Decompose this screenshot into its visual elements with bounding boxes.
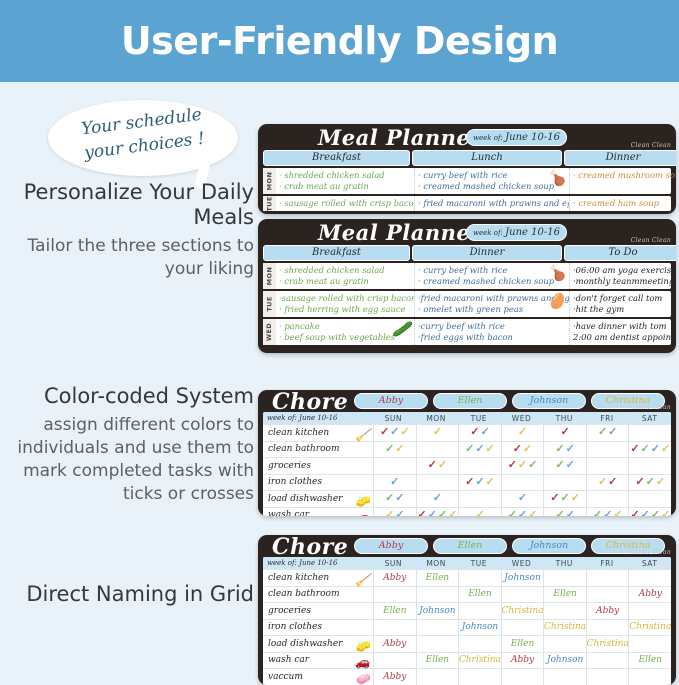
week-of-badge[interactable]: week of: June 10-16	[466, 224, 567, 241]
assigned-person-name: Ellen	[426, 573, 449, 583]
meal-cell[interactable]: · creamed mushroom soup	[570, 168, 676, 194]
check-mark-icon: ✓	[566, 510, 575, 516]
check-mark-icon: ✓	[395, 510, 404, 516]
check-mark-icon: ✓	[630, 510, 639, 516]
chore-cell[interactable]	[628, 458, 671, 474]
chore-cell[interactable]	[628, 603, 671, 619]
chore-cell[interactable]	[501, 475, 544, 491]
meal-entry: ·sausage rolled with crisp bacon	[279, 293, 411, 304]
check-mark-icon: ✓	[513, 444, 522, 455]
chore-row: groceriesEllenJohnsonChristinaAbby	[263, 602, 671, 619]
chore-cell[interactable]: ✓✓	[373, 442, 416, 458]
chore-cell[interactable]	[628, 425, 671, 441]
meal-cell[interactable]: · shredded chicken salad· crab meat au g…	[276, 168, 415, 194]
meal-cell[interactable]: ·fried macaroni with prawns and eggs· om…	[415, 291, 570, 317]
chore-cell[interactable]: ✓✓	[543, 508, 586, 517]
meal-cell[interactable]: ·don't forget call tom·hit the gym	[570, 291, 676, 317]
chore-cell[interactable]	[458, 570, 501, 586]
board-header: Meal Plannerweek of: June 10-16Clean Cle…	[258, 124, 676, 150]
chore-cell[interactable]: ✓	[416, 491, 459, 507]
meal-entry: ·curry beef with rice	[418, 321, 566, 332]
check-mark-icon: ✓	[641, 444, 650, 455]
meal-planner-board: Meal Plannerweek of: June 10-16Clean Cle…	[258, 124, 676, 214]
assigned-person-name: Johnson	[547, 655, 583, 665]
chore-cell[interactable]	[416, 442, 459, 458]
check-mark-icon: ✓	[433, 493, 442, 504]
chore-row: vaccum🧼Abby	[263, 668, 671, 685]
day-label: WED	[263, 319, 276, 345]
meal-entry: · creamed mashed chicken soup	[418, 181, 566, 192]
chore-cell[interactable]: ✓✓	[586, 425, 629, 441]
chore-cell[interactable]	[373, 620, 416, 636]
assigned-person-name: Christina	[501, 606, 543, 616]
meal-column-header: To Do	[564, 245, 676, 261]
chore-row: groceries✓✓✓✓✓✓✓	[263, 457, 671, 474]
chore-cell[interactable]	[586, 458, 629, 474]
page-header: User-Friendly Design	[0, 0, 679, 82]
meal-row: TUE·sausage rolled with crisp bacon· fri…	[263, 291, 671, 317]
meal-column-header: Dinner	[564, 150, 676, 166]
chore-cell[interactable]: Abby	[586, 603, 629, 619]
chore-cell[interactable]: ✓✓	[543, 458, 586, 474]
meal-cell[interactable]: ·sausage rolled with crisp bacon· fried …	[276, 291, 415, 317]
check-mark-icon: ✓	[630, 444, 639, 455]
chore-row: clean bathroom✓✓✓✓✓✓✓✓✓✓✓✓✓	[263, 441, 671, 458]
day-column-header: WED	[500, 559, 543, 568]
board-logo: Meal Planner	[318, 125, 482, 150]
chore-cell[interactable]: ✓✓✓	[501, 508, 544, 517]
day-label: MON	[263, 263, 276, 289]
meal-entry: · creamed mashed chicken soup	[418, 276, 566, 287]
board-logo: Meal Planner	[318, 220, 482, 245]
chore-cell[interactable]: ✓✓✓	[586, 508, 629, 517]
chore-cell[interactable]: Ellen	[373, 603, 416, 619]
chore-cell[interactable]: ✓✓✓✓	[416, 508, 459, 517]
meal-planner-board: Meal Plannerweek of: June 10-16Clean Cle…	[258, 219, 676, 353]
meal-entry: ·fried macaroni with prawns and eggs	[418, 293, 566, 304]
person-name-tag[interactable]: Ellen	[433, 393, 507, 409]
check-mark-icon: ✓	[385, 493, 394, 504]
meal-entry: · beef soup with vegetables	[279, 332, 411, 343]
caption-personalize-meals: Personalize Your Daily Meals Tailor the …	[0, 180, 264, 281]
chore-cell[interactable]: ✓✓✓	[458, 475, 501, 491]
meal-cell[interactable]: · creamed ham soup	[570, 196, 676, 211]
meal-cell[interactable]: ·curry beef with rice·fried eggs with ba…	[415, 319, 570, 345]
check-mark-icon: ✓	[475, 510, 484, 516]
chore-cell[interactable]: Johnson	[458, 620, 501, 636]
chore-task-icon: 🧹	[355, 573, 370, 587]
meal-entry: · creamed mushroom soup	[573, 170, 676, 181]
food-sticker-icon: 🍗	[547, 266, 566, 281]
check-mark-icon: ✓	[428, 460, 437, 471]
chore-cell[interactable]: ✓✓	[458, 425, 501, 441]
meal-cell[interactable]: ·06:00 am yoga exercise·monthly teanmmee…	[570, 263, 676, 289]
chore-cell[interactable]	[586, 669, 629, 685]
check-mark-icon: ✓	[646, 477, 655, 488]
meal-cell[interactable]: · curry beef with rice· creamed mashed c…	[415, 263, 570, 289]
check-mark-icon: ✓	[661, 510, 670, 516]
week-of-badge[interactable]: week of: June 10-16	[466, 129, 567, 146]
assigned-person-name: Christina	[587, 639, 629, 649]
chore-cell[interactable]: ✓	[543, 425, 586, 441]
chore-task-label[interactable]: groceries	[263, 461, 373, 471]
check-mark-icon: ✓	[438, 510, 447, 516]
chore-cell[interactable]: Abby	[373, 636, 416, 652]
meal-entry: ·fried eggs with bacon	[418, 332, 566, 343]
chore-cell[interactable]: Christina	[628, 620, 671, 636]
week-of-header[interactable]: week of: June 10-16	[263, 414, 372, 422]
check-mark-icon: ✓	[603, 510, 612, 516]
chore-cell[interactable]: ✓✓	[586, 475, 629, 491]
assigned-person-name: Ellen	[426, 655, 449, 665]
assigned-person-name: Abby	[383, 639, 406, 649]
chore-cell[interactable]	[458, 669, 501, 685]
check-mark-icon: ✓	[380, 427, 389, 438]
board-header: Meal Plannerweek of: June 10-16Clean Cle…	[258, 219, 676, 245]
chore-cell[interactable]: Ellen	[628, 653, 671, 669]
meal-row: TUE· sausage rolled with crisp bacon· fr…	[263, 196, 671, 211]
board-header: ChoreAbbyEllenJohnsonChristinaClean Clea…	[258, 535, 676, 557]
chore-cell[interactable]	[458, 636, 501, 652]
chore-cell[interactable]: ✓✓✓	[501, 458, 544, 474]
chore-row: load dishwasher🧽✓✓✓✓✓✓✓	[263, 490, 671, 507]
chore-row: load dishwasher🧽AbbyEllenChristina	[263, 635, 671, 652]
chore-cell[interactable]	[628, 570, 671, 586]
assigned-person-name: Christina	[629, 622, 671, 632]
check-mark-icon: ✓	[428, 510, 437, 516]
day-column-header: FRI	[586, 559, 629, 568]
chore-cell[interactable]	[458, 491, 501, 507]
brand-logo: Clean Clean	[631, 237, 671, 244]
chore-row: clean kitchen🧹AbbyEllenJohnson	[263, 569, 671, 586]
caption-color-coded: Color-coded System assign different colo…	[0, 384, 264, 506]
meal-entry: 2:00 am dentist appointment	[573, 332, 676, 343]
chore-cell[interactable]	[501, 669, 544, 685]
day-column-header: THU	[543, 414, 586, 423]
check-mark-icon: ✓	[555, 460, 564, 471]
chore-task-label[interactable]: wash car🚗	[263, 655, 373, 665]
check-mark-icon: ✓	[528, 460, 537, 471]
check-mark-icon: ✓	[593, 510, 602, 516]
chore-cell[interactable]: Johnson	[501, 570, 544, 586]
assigned-person-name: Ellen	[383, 606, 406, 616]
week-of-label: week of:	[473, 229, 505, 237]
meal-cell[interactable]: · pancake· beef soup with vegetables🥒	[276, 319, 415, 345]
food-sticker-icon: 🥚	[547, 294, 566, 309]
chore-grid: week of: June 10-16SUNMONTUEWEDTHUFRISAT…	[263, 557, 671, 685]
week-of-header[interactable]: week of: June 10-16	[263, 559, 372, 567]
chore-cell[interactable]: ✓✓	[543, 442, 586, 458]
meal-cell[interactable]: · sausage rolled with crisp bacon	[276, 196, 415, 211]
chore-cell[interactable]	[501, 587, 544, 603]
chore-task-label[interactable]: clean bathroom	[263, 444, 373, 454]
brand-logo: Clean Clean	[631, 549, 671, 556]
check-mark-icon: ✓	[571, 493, 580, 504]
check-mark-icon: ✓	[656, 477, 665, 488]
chore-cell[interactable]: Johnson	[543, 653, 586, 669]
check-mark-icon: ✓	[486, 477, 495, 488]
day-label: TUE	[263, 196, 276, 211]
chore-cell[interactable]	[586, 570, 629, 586]
chore-cell[interactable]: ✓	[501, 491, 544, 507]
chore-cell[interactable]: Ellen	[501, 636, 544, 652]
chore-cell[interactable]	[373, 653, 416, 669]
check-mark-icon: ✓	[555, 444, 564, 455]
chore-cell[interactable]	[628, 491, 671, 507]
check-mark-icon: ✓	[395, 444, 404, 455]
chore-cell[interactable]: Christina	[501, 603, 544, 619]
chore-cell[interactable]	[543, 603, 586, 619]
meal-column-header: Breakfast	[263, 150, 410, 166]
person-name-tags: AbbyEllenJohnsonChristina	[354, 393, 665, 409]
assigned-person-name: Johnson	[462, 622, 498, 632]
meal-row: MON· shredded chicken salad· crab meat a…	[263, 263, 671, 289]
meal-column-headers: BreakfastLunchDinner	[258, 150, 676, 166]
chore-cell[interactable]	[628, 636, 671, 652]
chore-task-label[interactable]: load dishwasher🧽	[263, 494, 373, 504]
chore-cell[interactable]: ✓✓✓	[543, 491, 586, 507]
chore-cell[interactable]	[416, 620, 459, 636]
chore-cell[interactable]: ✓✓✓✓	[628, 508, 671, 517]
chore-cell[interactable]	[586, 653, 629, 669]
check-mark-icon: ✓	[390, 427, 399, 438]
meal-row: WED· pancake· beef soup with vegetables🥒…	[263, 319, 671, 345]
person-name-tag[interactable]: Abby	[354, 393, 428, 409]
meal-entry: · shredded chicken salad	[279, 265, 411, 276]
chore-task-label[interactable]: clean kitchen🧹	[263, 428, 373, 438]
chore-task-icon: 🚗	[355, 510, 370, 516]
chore-cell[interactable]	[373, 587, 416, 603]
chore-cell[interactable]: Abby	[628, 587, 671, 603]
chore-cell[interactable]	[543, 570, 586, 586]
day-column-header: SAT	[628, 559, 671, 568]
chore-task-label[interactable]: iron clothes	[263, 622, 373, 632]
chore-cell[interactable]	[501, 620, 544, 636]
chore-cell[interactable]	[586, 491, 629, 507]
chore-cell[interactable]	[416, 669, 459, 685]
chore-cell[interactable]	[586, 442, 629, 458]
day-column-header: THU	[543, 559, 586, 568]
check-mark-icon: ✓	[598, 427, 607, 438]
chore-row: clean bathroomEllenEllenAbby	[263, 586, 671, 603]
chore-cell[interactable]: Ellen	[543, 587, 586, 603]
check-mark-icon: ✓	[475, 477, 484, 488]
chore-cell[interactable]: ✓	[501, 425, 544, 441]
assigned-person-name: Johnson	[419, 606, 455, 616]
assigned-person-name: Ellen	[511, 639, 534, 649]
chore-task-label[interactable]: groceries	[263, 606, 373, 616]
chore-chart-board: ChoreAbbyEllenJohnsonChristinaClean Clea…	[258, 535, 676, 685]
caption-subtitle: assign different colors to individuals a…	[6, 414, 254, 506]
chore-row: iron clothes✓✓✓✓✓✓✓✓✓	[263, 474, 671, 491]
meal-entry: · sausage rolled with crisp bacon	[279, 198, 411, 209]
day-column-header: MON	[415, 414, 458, 423]
chore-cell[interactable]: Abby	[373, 570, 416, 586]
chore-cell[interactable]: ✓✓	[416, 458, 459, 474]
chore-cell[interactable]: Ellen	[458, 587, 501, 603]
meal-cell[interactable]: · fried macaroni with prawns and eggs	[415, 196, 570, 211]
meal-cell[interactable]: · shredded chicken salad· crab meat au g…	[276, 263, 415, 289]
meal-entry: ·have dinner with tom	[573, 321, 676, 332]
chore-task-label[interactable]: wash car🚗	[263, 510, 373, 516]
meal-entry: · curry beef with rice	[418, 265, 566, 276]
chore-cell[interactable]: Ellen	[416, 570, 459, 586]
day-column-header: WED	[500, 414, 543, 423]
chore-cell[interactable]: ✓✓	[373, 508, 416, 517]
meal-entry: · curry beef with rice	[418, 170, 566, 181]
check-mark-icon: ✓	[550, 493, 559, 504]
caption-subtitle: Tailor the three sections to your liking	[6, 235, 254, 281]
chore-cell[interactable]: ✓✓	[501, 442, 544, 458]
assigned-person-name: Ellen	[639, 655, 662, 665]
chore-cell[interactable]: ✓✓	[373, 491, 416, 507]
check-mark-icon: ✓	[661, 444, 670, 455]
caption-title: Color-coded System	[6, 384, 254, 409]
page-title: User-Friendly Design	[121, 19, 558, 63]
meal-cell[interactable]: · curry beef with rice· creamed mashed c…	[415, 168, 570, 194]
chore-task-label[interactable]: clean kitchen🧹	[263, 573, 373, 583]
check-mark-icon: ✓	[448, 510, 457, 516]
chore-cell[interactable]: ✓	[458, 508, 501, 517]
board-logo: Chore	[272, 535, 348, 560]
person-name-tags: AbbyEllenJohnsonChristina	[354, 538, 665, 554]
chore-cell[interactable]	[586, 587, 629, 603]
chore-cell[interactable]: ✓✓✓	[458, 442, 501, 458]
caption-title: Direct Naming in Grid	[6, 582, 254, 607]
meal-column-header: Breakfast	[263, 245, 410, 261]
assigned-person-name: Abby	[596, 606, 619, 616]
chore-row: wash car🚗EllenChristinaAbbyJohnsonEllen	[263, 652, 671, 669]
chore-cell[interactable]	[416, 587, 459, 603]
chore-cell[interactable]: ✓	[373, 475, 416, 491]
chore-cell[interactable]: Christina	[586, 636, 629, 652]
chore-task-label[interactable]: clean bathroom	[263, 589, 373, 599]
check-mark-icon: ✓	[566, 444, 575, 455]
meal-cell[interactable]: ·have dinner with tom2:00 am dentist app…	[570, 319, 676, 345]
check-mark-icon: ✓	[470, 427, 479, 438]
chore-task-icon: 🚗	[355, 655, 370, 669]
chore-cell[interactable]: Abby	[373, 669, 416, 685]
day-column-header: SUN	[372, 559, 415, 568]
board-header: ChoreAbbyEllenJohnsonChristinaClean Clea…	[258, 390, 676, 412]
chore-cell[interactable]: ✓✓✓✓	[628, 442, 671, 458]
check-mark-icon: ✓	[651, 444, 660, 455]
assigned-person-name: Ellen	[468, 589, 491, 599]
meal-entry: · fried herring with egg sauce	[279, 304, 411, 315]
check-mark-icon: ✓	[635, 477, 644, 488]
caption-direct-naming: Direct Naming in Grid	[0, 582, 264, 607]
day-column-header: SUN	[372, 414, 415, 423]
chore-cell[interactable]	[586, 620, 629, 636]
meal-column-header: Lunch	[412, 150, 562, 166]
chore-grid: week of: June 10-16SUNMONTUEWEDTHUFRISAT…	[263, 412, 671, 516]
check-mark-icon: ✓	[465, 444, 474, 455]
check-mark-icon: ✓	[390, 477, 399, 488]
check-mark-icon: ✓	[417, 510, 426, 516]
check-mark-icon: ✓	[528, 510, 537, 516]
food-sticker-icon: 🥒	[392, 322, 411, 337]
check-mark-icon: ✓	[395, 493, 404, 504]
person-name-tag[interactable]: Johnson	[512, 538, 586, 554]
board-logo: Chore	[272, 390, 348, 415]
chore-chart-board: ChoreAbbyEllenJohnsonChristinaClean Clea…	[258, 390, 676, 516]
check-mark-icon: ✓	[480, 427, 489, 438]
check-mark-icon: ✓	[465, 477, 474, 488]
check-mark-icon: ✓	[566, 460, 575, 471]
meal-entry: ·06:00 am yoga exercise	[573, 265, 676, 276]
check-mark-icon: ✓	[433, 427, 442, 438]
chore-cell[interactable]	[373, 458, 416, 474]
meal-column-headers: BreakfastDinnerTo Do	[258, 245, 676, 261]
chore-cell[interactable]: Christina	[458, 653, 501, 669]
meal-entry: ·don't forget call tom	[573, 293, 676, 304]
chore-cell[interactable]	[416, 475, 459, 491]
chore-cell[interactable]	[543, 636, 586, 652]
brand-logo: Clean Clean	[631, 142, 671, 149]
check-mark-icon: ✓	[385, 444, 394, 455]
assigned-person-name: Abby	[511, 655, 534, 665]
check-mark-icon: ✓	[518, 493, 527, 504]
chore-cell[interactable]	[458, 458, 501, 474]
check-mark-icon: ✓	[560, 427, 569, 438]
chore-cell[interactable]	[628, 669, 671, 685]
chore-cell[interactable]	[543, 669, 586, 685]
check-mark-icon: ✓	[475, 444, 484, 455]
meal-entry: ·monthly teanmmeeting	[573, 276, 676, 287]
chore-cell[interactable]	[416, 636, 459, 652]
person-name-tag[interactable]: Ellen	[433, 538, 507, 554]
check-mark-icon: ✓	[385, 510, 394, 516]
day-label: TUE	[263, 291, 276, 317]
chore-cell[interactable]: ✓✓✓	[628, 475, 671, 491]
week-of-label: week of:	[473, 134, 505, 142]
meal-column-header: Dinner	[412, 245, 562, 261]
chore-cell[interactable]	[543, 475, 586, 491]
chore-row: iron clothesJohnsonChristinaChristina	[263, 619, 671, 636]
check-mark-icon: ✓	[523, 444, 532, 455]
check-mark-icon: ✓	[508, 510, 517, 516]
chore-cell[interactable]: Christina	[543, 620, 586, 636]
check-mark-icon: ✓	[651, 510, 660, 516]
check-mark-icon: ✓	[438, 460, 447, 471]
day-label: MON	[263, 168, 276, 194]
chore-task-label[interactable]: load dishwasher🧽	[263, 639, 373, 649]
chore-cell[interactable]: Ellen	[416, 653, 459, 669]
check-mark-icon: ✓	[598, 477, 607, 488]
food-sticker-icon: 🍗	[547, 171, 566, 186]
check-mark-icon: ✓	[608, 477, 617, 488]
assigned-person-name: Johnson	[504, 573, 540, 583]
chore-row: wash car🚗✓✓✓✓✓✓✓✓✓✓✓✓✓✓✓✓✓✓✓	[263, 507, 671, 517]
chore-task-icon: 🧹	[355, 428, 370, 442]
chore-cell[interactable]: Abby	[501, 653, 544, 669]
person-name-tag[interactable]: Abby	[354, 538, 428, 554]
assigned-person-name: Christina	[544, 622, 586, 632]
chore-cell[interactable]: ✓	[416, 425, 459, 441]
check-mark-icon: ✓	[486, 444, 495, 455]
person-name-tag[interactable]: Johnson	[512, 393, 586, 409]
chore-task-label[interactable]: iron clothes	[263, 477, 373, 487]
chore-row: clean kitchen🧹✓✓✓✓✓✓✓✓✓✓	[263, 424, 671, 441]
chore-task-label[interactable]: vaccum🧼	[263, 672, 373, 682]
day-column-header: SAT	[628, 414, 671, 423]
chore-cell[interactable]	[458, 603, 501, 619]
meal-entry: · omelet with green peas	[418, 304, 566, 315]
check-mark-icon: ✓	[400, 427, 409, 438]
chore-cell[interactable]: Johnson	[416, 603, 459, 619]
check-mark-icon: ✓	[641, 510, 650, 516]
chore-cell[interactable]: ✓✓✓	[373, 425, 416, 441]
